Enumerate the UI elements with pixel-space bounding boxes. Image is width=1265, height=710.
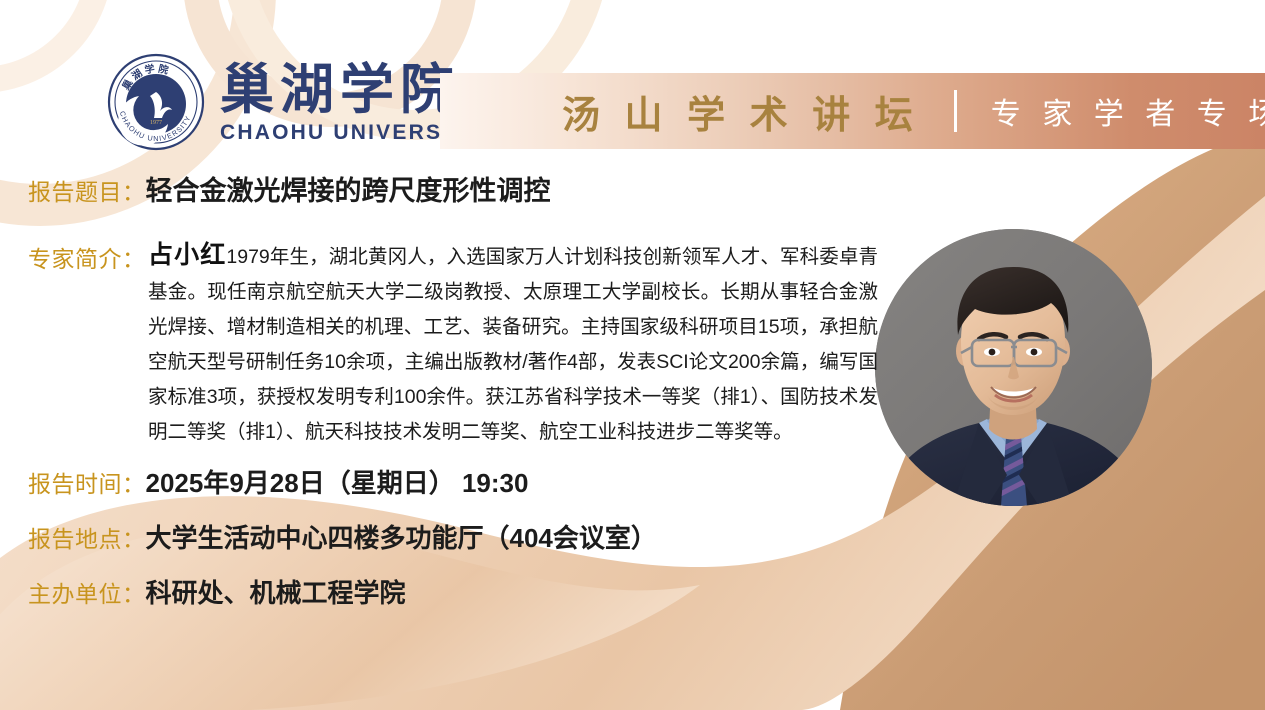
banner-divider: [954, 90, 957, 132]
speaker-portrait-image: [875, 229, 1152, 506]
field-time-row: 报告时间： 2025年9月28日（星期日） 19:30: [28, 463, 528, 500]
field-place-row: 报告地点： 大学生活动中心四楼多功能厅（404会议室）: [28, 518, 657, 555]
poster-header: 1977 巢 湖 学 院 CHAOHU UNIVERSITY 巢湖学院 CHAO…: [0, 0, 1265, 160]
time-label: 报告时间：: [28, 465, 146, 499]
title-value: 轻合金激光焊接的跨尺度形性调控: [146, 169, 551, 208]
seminar-poster: 1977 巢 湖 学 院 CHAOHU UNIVERSITY 巢湖学院 CHAO…: [0, 0, 1265, 710]
speaker-name: 占小红: [148, 241, 226, 269]
place-label: 报告地点：: [28, 520, 146, 554]
speaker-portrait: [875, 229, 1152, 506]
field-title-row: 报告题目： 轻合金激光焊接的跨尺度形性调控: [28, 169, 551, 208]
bio-label: 专家简介：: [28, 240, 146, 274]
field-bio-label-row: 专家简介：: [28, 240, 146, 274]
organizer-value: 科研处、机械工程学院: [146, 573, 406, 610]
time-value: 2025年9月28日（星期日） 19:30: [146, 463, 529, 500]
organizer-label: 主办单位：: [28, 575, 146, 609]
field-organizer-row: 主办单位： 科研处、机械工程学院: [28, 573, 406, 610]
forum-banner: 汤 山 学 术 讲 坛 专 家 学 者 专 场: [440, 73, 1265, 149]
university-seal-icon: 1977 巢 湖 学 院 CHAOHU UNIVERSITY: [106, 52, 206, 152]
forum-title: 汤 山 学 术 讲 坛: [562, 84, 920, 139]
place-value: 大学生活动中心四楼多功能厅（404会议室）: [146, 518, 657, 555]
bio-text: 1979年生，湖北黄冈人，入选国家万人计划科技创新领军人才、军科委卓青基金。现任…: [148, 246, 878, 443]
forum-subtitle: 专 家 学 者 专 场: [991, 89, 1265, 133]
university-logo-block: 1977 巢 湖 学 院 CHAOHU UNIVERSITY 巢湖学院 CHAO…: [106, 52, 481, 152]
svg-text:1977: 1977: [150, 120, 162, 126]
title-label: 报告题目：: [28, 173, 146, 207]
bio-paragraph: 占小红1979年生，湖北黄冈人，入选国家万人计划科技创新领军人才、军科委卓青基金…: [148, 238, 878, 450]
